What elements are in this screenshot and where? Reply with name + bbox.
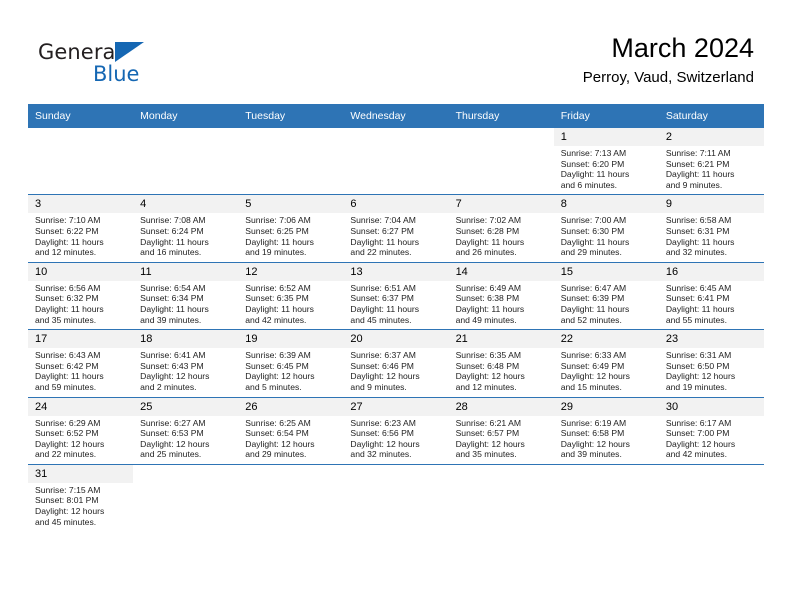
page-title: March 2024 (583, 32, 754, 64)
day-details: Sunrise: 6:47 AMSunset: 6:39 PMDaylight:… (554, 281, 659, 329)
sunrise-text: Sunrise: 7:04 AM (350, 215, 442, 226)
daylight-text-line2: and 32 minutes. (350, 449, 442, 460)
calendar-cell-empty (343, 464, 448, 531)
calendar-day-cell[interactable]: 25Sunrise: 6:27 AMSunset: 6:53 PMDayligh… (133, 397, 238, 464)
calendar-day-cell[interactable]: 5Sunrise: 7:06 AMSunset: 6:25 PMDaylight… (238, 195, 343, 262)
calendar-day-cell[interactable]: 2Sunrise: 7:11 AMSunset: 6:21 PMDaylight… (659, 128, 764, 195)
calendar-week-row: 3Sunrise: 7:10 AMSunset: 6:22 PMDaylight… (28, 195, 764, 262)
page-subtitle: Perroy, Vaud, Switzerland (583, 68, 754, 88)
daylight-text-line2: and 42 minutes. (245, 315, 337, 326)
daylight-text-line1: Daylight: 11 hours (35, 237, 127, 248)
day-number: 13 (343, 263, 448, 281)
calendar-day-cell[interactable]: 14Sunrise: 6:49 AMSunset: 6:38 PMDayligh… (449, 262, 554, 329)
sunset-text: Sunset: 6:53 PM (140, 428, 232, 439)
day-number: 20 (343, 330, 448, 348)
daylight-text-line2: and 45 minutes. (350, 315, 442, 326)
daylight-text-line2: and 39 minutes. (140, 315, 232, 326)
sunset-text: Sunset: 6:58 PM (561, 428, 653, 439)
day-number: 22 (554, 330, 659, 348)
day-details: Sunrise: 7:02 AMSunset: 6:28 PMDaylight:… (449, 213, 554, 261)
sunset-text: Sunset: 6:38 PM (456, 293, 548, 304)
day-details: Sunrise: 6:49 AMSunset: 6:38 PMDaylight:… (449, 281, 554, 329)
sunset-text: Sunset: 6:54 PM (245, 428, 337, 439)
title-block: March 2024 Perroy, Vaud, Switzerland (583, 32, 754, 88)
daylight-text-line1: Daylight: 12 hours (350, 371, 442, 382)
day-number: 15 (554, 263, 659, 281)
sunrise-sunset-calendar: Sunday Monday Tuesday Wednesday Thursday… (28, 104, 764, 531)
day-number: 27 (343, 398, 448, 416)
day-number: 2 (659, 128, 764, 146)
day-details: Sunrise: 6:39 AMSunset: 6:45 PMDaylight:… (238, 348, 343, 396)
daylight-text-line2: and 15 minutes. (561, 382, 653, 393)
sunrise-text: Sunrise: 6:27 AM (140, 418, 232, 429)
day-number: 30 (659, 398, 764, 416)
day-details: Sunrise: 6:43 AMSunset: 6:42 PMDaylight:… (28, 348, 133, 396)
sunrise-text: Sunrise: 6:43 AM (35, 350, 127, 361)
weekday-header-saturday: Saturday (659, 104, 764, 128)
calendar-day-cell[interactable]: 16Sunrise: 6:45 AMSunset: 6:41 PMDayligh… (659, 262, 764, 329)
day-number: 26 (238, 398, 343, 416)
calendar-page: General Blue March 2024 Perroy, Vaud, Sw… (0, 0, 792, 612)
sunset-text: Sunset: 6:46 PM (350, 361, 442, 372)
sunset-text: Sunset: 6:20 PM (561, 159, 653, 170)
calendar-day-cell[interactable]: 19Sunrise: 6:39 AMSunset: 6:45 PMDayligh… (238, 330, 343, 397)
calendar-day-cell[interactable]: 4Sunrise: 7:08 AMSunset: 6:24 PMDaylight… (133, 195, 238, 262)
daylight-text-line1: Daylight: 12 hours (350, 439, 442, 450)
daylight-text-line1: Daylight: 11 hours (456, 304, 548, 315)
sunset-text: Sunset: 8:01 PM (35, 495, 127, 506)
calendar-day-cell[interactable]: 22Sunrise: 6:33 AMSunset: 6:49 PMDayligh… (554, 330, 659, 397)
daylight-text-line1: Daylight: 11 hours (350, 237, 442, 248)
day-details: Sunrise: 7:15 AMSunset: 8:01 PMDaylight:… (28, 483, 133, 531)
sunrise-text: Sunrise: 6:45 AM (666, 283, 758, 294)
sunset-text: Sunset: 6:52 PM (35, 428, 127, 439)
calendar-cell-empty (343, 128, 448, 195)
day-details: Sunrise: 6:45 AMSunset: 6:41 PMDaylight:… (659, 281, 764, 329)
daylight-text-line2: and 5 minutes. (245, 382, 337, 393)
day-number: 1 (554, 128, 659, 146)
day-number: 6 (343, 195, 448, 213)
calendar-day-cell[interactable]: 9Sunrise: 6:58 AMSunset: 6:31 PMDaylight… (659, 195, 764, 262)
daylight-text-line1: Daylight: 11 hours (456, 237, 548, 248)
sunrise-text: Sunrise: 6:19 AM (561, 418, 653, 429)
sunset-text: Sunset: 6:22 PM (35, 226, 127, 237)
calendar-week-row: 31Sunrise: 7:15 AMSunset: 8:01 PMDayligh… (28, 464, 764, 531)
page-header: General Blue March 2024 Perroy, Vaud, Sw… (0, 0, 792, 104)
sunrise-text: Sunrise: 6:25 AM (245, 418, 337, 429)
calendar-body: 1Sunrise: 7:13 AMSunset: 6:20 PMDaylight… (28, 128, 764, 532)
daylight-text-line2: and 9 minutes. (666, 180, 758, 191)
calendar-day-cell[interactable]: 13Sunrise: 6:51 AMSunset: 6:37 PMDayligh… (343, 262, 448, 329)
day-number: 23 (659, 330, 764, 348)
daylight-text-line1: Daylight: 12 hours (666, 439, 758, 450)
day-details: Sunrise: 6:29 AMSunset: 6:52 PMDaylight:… (28, 416, 133, 464)
day-details: Sunrise: 6:31 AMSunset: 6:50 PMDaylight:… (659, 348, 764, 396)
daylight-text-line2: and 22 minutes. (350, 247, 442, 258)
sunrise-text: Sunrise: 6:31 AM (666, 350, 758, 361)
sunset-text: Sunset: 6:24 PM (140, 226, 232, 237)
daylight-text-line1: Daylight: 11 hours (561, 304, 653, 315)
day-details: Sunrise: 6:35 AMSunset: 6:48 PMDaylight:… (449, 348, 554, 396)
calendar-day-cell[interactable]: 23Sunrise: 6:31 AMSunset: 6:50 PMDayligh… (659, 330, 764, 397)
calendar-week-row: 10Sunrise: 6:56 AMSunset: 6:32 PMDayligh… (28, 262, 764, 329)
sunrise-text: Sunrise: 6:35 AM (456, 350, 548, 361)
sunrise-text: Sunrise: 6:37 AM (350, 350, 442, 361)
day-details: Sunrise: 7:11 AMSunset: 6:21 PMDaylight:… (659, 146, 764, 194)
day-details: Sunrise: 6:19 AMSunset: 6:58 PMDaylight:… (554, 416, 659, 464)
daylight-text-line2: and 29 minutes. (245, 449, 337, 460)
calendar-cell-empty (28, 128, 133, 195)
daylight-text-line2: and 35 minutes. (456, 449, 548, 460)
sunset-text: Sunset: 6:27 PM (350, 226, 442, 237)
logo-triangle-icon (115, 42, 144, 62)
sunrise-text: Sunrise: 6:49 AM (456, 283, 548, 294)
day-details: Sunrise: 6:33 AMSunset: 6:49 PMDaylight:… (554, 348, 659, 396)
daylight-text-line1: Daylight: 11 hours (140, 237, 232, 248)
daylight-text-line2: and 16 minutes. (140, 247, 232, 258)
day-details: Sunrise: 6:52 AMSunset: 6:35 PMDaylight:… (238, 281, 343, 329)
daylight-text-line1: Daylight: 12 hours (140, 371, 232, 382)
day-number: 24 (28, 398, 133, 416)
daylight-text-line2: and 25 minutes. (140, 449, 232, 460)
day-details: Sunrise: 6:21 AMSunset: 6:57 PMDaylight:… (449, 416, 554, 464)
calendar-cell-empty (133, 464, 238, 531)
day-details: Sunrise: 7:00 AMSunset: 6:30 PMDaylight:… (554, 213, 659, 261)
day-number: 19 (238, 330, 343, 348)
calendar-day-cell[interactable]: 10Sunrise: 6:56 AMSunset: 6:32 PMDayligh… (28, 262, 133, 329)
day-details: Sunrise: 6:58 AMSunset: 6:31 PMDaylight:… (659, 213, 764, 261)
sunrise-text: Sunrise: 6:23 AM (350, 418, 442, 429)
calendar-day-cell[interactable]: 28Sunrise: 6:21 AMSunset: 6:57 PMDayligh… (449, 397, 554, 464)
sunrise-text: Sunrise: 7:02 AM (456, 215, 548, 226)
sunrise-text: Sunrise: 7:06 AM (245, 215, 337, 226)
calendar-day-cell[interactable]: 29Sunrise: 6:19 AMSunset: 6:58 PMDayligh… (554, 397, 659, 464)
calendar-cell-empty (659, 464, 764, 531)
daylight-text-line2: and 45 minutes. (35, 517, 127, 528)
daylight-text-line1: Daylight: 11 hours (140, 304, 232, 315)
daylight-text-line2: and 12 minutes. (456, 382, 548, 393)
weekday-header-row: Sunday Monday Tuesday Wednesday Thursday… (28, 104, 764, 128)
day-details: Sunrise: 7:10 AMSunset: 6:22 PMDaylight:… (28, 213, 133, 261)
sunrise-text: Sunrise: 6:39 AM (245, 350, 337, 361)
weekday-header-monday: Monday (133, 104, 238, 128)
daylight-text-line2: and 29 minutes. (561, 247, 653, 258)
daylight-text-line1: Daylight: 12 hours (666, 371, 758, 382)
daylight-text-line2: and 55 minutes. (666, 315, 758, 326)
sunset-text: Sunset: 6:37 PM (350, 293, 442, 304)
sunset-text: Sunset: 6:42 PM (35, 361, 127, 372)
sunrise-text: Sunrise: 6:17 AM (666, 418, 758, 429)
day-number: 8 (554, 195, 659, 213)
day-number: 21 (449, 330, 554, 348)
sunrise-text: Sunrise: 7:15 AM (35, 485, 127, 496)
daylight-text-line1: Daylight: 11 hours (245, 237, 337, 248)
daylight-text-line1: Daylight: 12 hours (561, 371, 653, 382)
sunrise-text: Sunrise: 6:58 AM (666, 215, 758, 226)
day-number: 31 (28, 465, 133, 483)
calendar-day-cell[interactable]: 17Sunrise: 6:43 AMSunset: 6:42 PMDayligh… (28, 330, 133, 397)
day-details: Sunrise: 6:54 AMSunset: 6:34 PMDaylight:… (133, 281, 238, 329)
weekday-header-friday: Friday (554, 104, 659, 128)
daylight-text-line2: and 19 minutes. (245, 247, 337, 258)
calendar-day-cell[interactable]: 27Sunrise: 6:23 AMSunset: 6:56 PMDayligh… (343, 397, 448, 464)
calendar-cell-empty (133, 128, 238, 195)
sunset-text: Sunset: 6:32 PM (35, 293, 127, 304)
day-details: Sunrise: 6:56 AMSunset: 6:32 PMDaylight:… (28, 281, 133, 329)
sunrise-text: Sunrise: 7:08 AM (140, 215, 232, 226)
daylight-text-line1: Daylight: 11 hours (561, 237, 653, 248)
daylight-text-line1: Daylight: 11 hours (666, 237, 758, 248)
sunrise-text: Sunrise: 6:33 AM (561, 350, 653, 361)
daylight-text-line1: Daylight: 11 hours (350, 304, 442, 315)
daylight-text-line1: Daylight: 11 hours (245, 304, 337, 315)
calendar-week-row: 17Sunrise: 6:43 AMSunset: 6:42 PMDayligh… (28, 330, 764, 397)
day-details: Sunrise: 6:25 AMSunset: 6:54 PMDaylight:… (238, 416, 343, 464)
daylight-text-line2: and 52 minutes. (561, 315, 653, 326)
calendar-cell-empty (238, 464, 343, 531)
day-details: Sunrise: 7:08 AMSunset: 6:24 PMDaylight:… (133, 213, 238, 261)
day-details: Sunrise: 6:41 AMSunset: 6:43 PMDaylight:… (133, 348, 238, 396)
daylight-text-line1: Daylight: 11 hours (666, 169, 758, 180)
day-number: 4 (133, 195, 238, 213)
calendar-cell-empty (449, 464, 554, 531)
daylight-text-line2: and 32 minutes. (666, 247, 758, 258)
daylight-text-line1: Daylight: 12 hours (35, 439, 127, 450)
sunset-text: Sunset: 6:41 PM (666, 293, 758, 304)
calendar-week-row: 1Sunrise: 7:13 AMSunset: 6:20 PMDaylight… (28, 128, 764, 195)
calendar-day-cell[interactable]: 6Sunrise: 7:04 AMSunset: 6:27 PMDaylight… (343, 195, 448, 262)
daylight-text-line1: Daylight: 12 hours (140, 439, 232, 450)
calendar-day-cell[interactable]: 15Sunrise: 6:47 AMSunset: 6:39 PMDayligh… (554, 262, 659, 329)
day-number: 7 (449, 195, 554, 213)
calendar-day-cell[interactable]: 11Sunrise: 6:54 AMSunset: 6:34 PMDayligh… (133, 262, 238, 329)
day-number: 14 (449, 263, 554, 281)
sunrise-text: Sunrise: 6:51 AM (350, 283, 442, 294)
calendar-day-cell[interactable]: 7Sunrise: 7:02 AMSunset: 6:28 PMDaylight… (449, 195, 554, 262)
calendar-day-cell[interactable]: 31Sunrise: 7:15 AMSunset: 8:01 PMDayligh… (28, 464, 133, 531)
day-number: 29 (554, 398, 659, 416)
day-number: 12 (238, 263, 343, 281)
daylight-text-line2: and 19 minutes. (666, 382, 758, 393)
daylight-text-line1: Daylight: 12 hours (35, 506, 127, 517)
day-details: Sunrise: 6:51 AMSunset: 6:37 PMDaylight:… (343, 281, 448, 329)
calendar-day-cell[interactable]: 12Sunrise: 6:52 AMSunset: 6:35 PMDayligh… (238, 262, 343, 329)
day-number: 25 (133, 398, 238, 416)
daylight-text-line2: and 9 minutes. (350, 382, 442, 393)
weekday-header-tuesday: Tuesday (238, 104, 343, 128)
sunset-text: Sunset: 6:28 PM (456, 226, 548, 237)
day-number: 3 (28, 195, 133, 213)
sunrise-text: Sunrise: 7:11 AM (666, 148, 758, 159)
calendar-day-cell[interactable]: 26Sunrise: 6:25 AMSunset: 6:54 PMDayligh… (238, 397, 343, 464)
sunrise-text: Sunrise: 7:00 AM (561, 215, 653, 226)
daylight-text-line1: Daylight: 12 hours (245, 439, 337, 450)
sunset-text: Sunset: 6:34 PM (140, 293, 232, 304)
sunrise-text: Sunrise: 6:21 AM (456, 418, 548, 429)
sunrise-text: Sunrise: 6:54 AM (140, 283, 232, 294)
day-details: Sunrise: 7:13 AMSunset: 6:20 PMDaylight:… (554, 146, 659, 194)
sunset-text: Sunset: 6:45 PM (245, 361, 337, 372)
calendar-cell-empty (449, 128, 554, 195)
daylight-text-line1: Daylight: 11 hours (35, 371, 127, 382)
day-details: Sunrise: 6:27 AMSunset: 6:53 PMDaylight:… (133, 416, 238, 464)
daylight-text-line2: and 39 minutes. (561, 449, 653, 460)
daylight-text-line2: and 2 minutes. (140, 382, 232, 393)
daylight-text-line2: and 35 minutes. (35, 315, 127, 326)
daylight-text-line1: Daylight: 12 hours (561, 439, 653, 450)
general-blue-logo: General Blue (38, 40, 178, 90)
day-number: 5 (238, 195, 343, 213)
day-number: 9 (659, 195, 764, 213)
daylight-text-line1: Daylight: 12 hours (456, 439, 548, 450)
logo-text-blue: Blue (93, 62, 139, 86)
sunrise-text: Sunrise: 6:29 AM (35, 418, 127, 429)
day-number: 18 (133, 330, 238, 348)
sunrise-text: Sunrise: 6:47 AM (561, 283, 653, 294)
daylight-text-line2: and 42 minutes. (666, 449, 758, 460)
sunset-text: Sunset: 6:48 PM (456, 361, 548, 372)
daylight-text-line1: Daylight: 12 hours (456, 371, 548, 382)
sunset-text: Sunset: 6:56 PM (350, 428, 442, 439)
daylight-text-line2: and 12 minutes. (35, 247, 127, 258)
sunset-text: Sunset: 6:21 PM (666, 159, 758, 170)
day-details: Sunrise: 6:17 AMSunset: 7:00 PMDaylight:… (659, 416, 764, 464)
sunrise-text: Sunrise: 6:52 AM (245, 283, 337, 294)
daylight-text-line2: and 6 minutes. (561, 180, 653, 191)
day-number: 10 (28, 263, 133, 281)
calendar-day-cell[interactable]: 30Sunrise: 6:17 AMSunset: 7:00 PMDayligh… (659, 397, 764, 464)
daylight-text-line2: and 59 minutes. (35, 382, 127, 393)
daylight-text-line1: Daylight: 11 hours (35, 304, 127, 315)
sunset-text: Sunset: 6:35 PM (245, 293, 337, 304)
sunset-text: Sunset: 6:50 PM (666, 361, 758, 372)
sunset-text: Sunset: 6:49 PM (561, 361, 653, 372)
sunset-text: Sunset: 7:00 PM (666, 428, 758, 439)
sunrise-text: Sunrise: 6:56 AM (35, 283, 127, 294)
daylight-text-line1: Daylight: 11 hours (561, 169, 653, 180)
sunset-text: Sunset: 6:43 PM (140, 361, 232, 372)
calendar-week-row: 24Sunrise: 6:29 AMSunset: 6:52 PMDayligh… (28, 397, 764, 464)
day-details: Sunrise: 6:23 AMSunset: 6:56 PMDaylight:… (343, 416, 448, 464)
logo-text-general: General (38, 40, 121, 64)
daylight-text-line1: Daylight: 12 hours (245, 371, 337, 382)
daylight-text-line2: and 26 minutes. (456, 247, 548, 258)
sunrise-text: Sunrise: 6:41 AM (140, 350, 232, 361)
sunset-text: Sunset: 6:39 PM (561, 293, 653, 304)
calendar-day-cell[interactable]: 8Sunrise: 7:00 AMSunset: 6:30 PMDaylight… (554, 195, 659, 262)
day-number: 28 (449, 398, 554, 416)
day-details: Sunrise: 6:37 AMSunset: 6:46 PMDaylight:… (343, 348, 448, 396)
calendar-day-cell[interactable]: 20Sunrise: 6:37 AMSunset: 6:46 PMDayligh… (343, 330, 448, 397)
calendar-day-cell[interactable]: 21Sunrise: 6:35 AMSunset: 6:48 PMDayligh… (449, 330, 554, 397)
day-number: 11 (133, 263, 238, 281)
calendar-day-cell[interactable]: 24Sunrise: 6:29 AMSunset: 6:52 PMDayligh… (28, 397, 133, 464)
calendar-day-cell[interactable]: 18Sunrise: 6:41 AMSunset: 6:43 PMDayligh… (133, 330, 238, 397)
day-details: Sunrise: 7:04 AMSunset: 6:27 PMDaylight:… (343, 213, 448, 261)
weekday-header-sunday: Sunday (28, 104, 133, 128)
weekday-header-thursday: Thursday (449, 104, 554, 128)
day-details: Sunrise: 7:06 AMSunset: 6:25 PMDaylight:… (238, 213, 343, 261)
daylight-text-line2: and 49 minutes. (456, 315, 548, 326)
day-number: 17 (28, 330, 133, 348)
sunset-text: Sunset: 6:30 PM (561, 226, 653, 237)
daylight-text-line1: Daylight: 11 hours (666, 304, 758, 315)
calendar-cell-empty (238, 128, 343, 195)
day-number: 16 (659, 263, 764, 281)
sunset-text: Sunset: 6:57 PM (456, 428, 548, 439)
sunrise-text: Sunrise: 7:13 AM (561, 148, 653, 159)
weekday-header-wednesday: Wednesday (343, 104, 448, 128)
sunrise-text: Sunrise: 7:10 AM (35, 215, 127, 226)
calendar-day-cell[interactable]: 1Sunrise: 7:13 AMSunset: 6:20 PMDaylight… (554, 128, 659, 195)
calendar-day-cell[interactable]: 3Sunrise: 7:10 AMSunset: 6:22 PMDaylight… (28, 195, 133, 262)
daylight-text-line2: and 22 minutes. (35, 449, 127, 460)
sunset-text: Sunset: 6:25 PM (245, 226, 337, 237)
calendar-cell-empty (554, 464, 659, 531)
sunset-text: Sunset: 6:31 PM (666, 226, 758, 237)
